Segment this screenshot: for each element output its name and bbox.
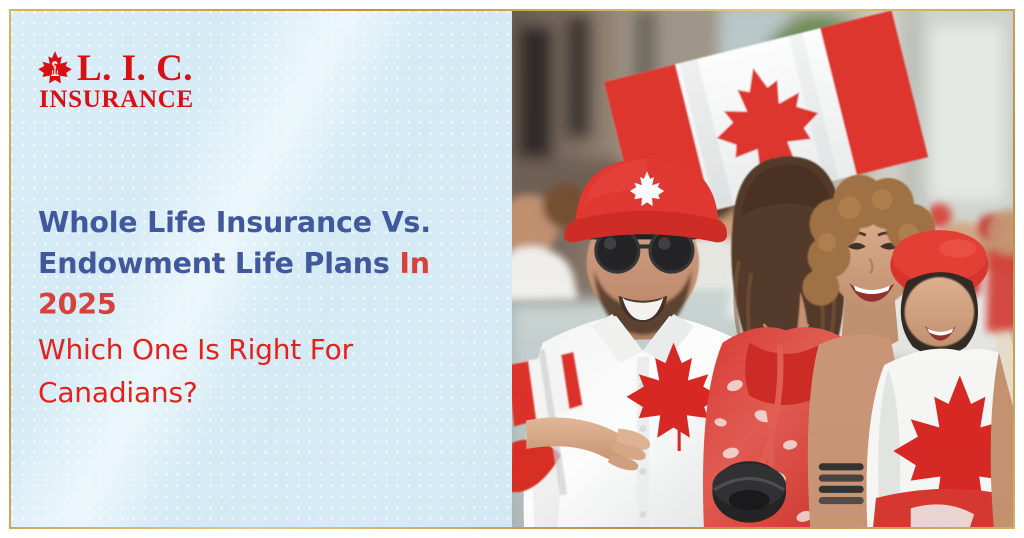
left-content-panel: L. I. C. INSURANCE Whole Life Insurance … [11,11,512,527]
logo-insurance-text: INSURANCE [39,86,194,113]
headline-main: Whole Life Insurance Vs. Endowment Life … [38,202,483,325]
logo-primary-row: L. I. C. [37,49,193,89]
headline-subtitle: Which One Is Right For Canadians? [38,328,483,414]
headline-line-1: Whole Life Insurance Vs. [38,202,483,243]
blog-banner: L. I. C. INSURANCE Whole Life Insurance … [0,0,1024,538]
headline-block: Whole Life Insurance Vs. Endowment Life … [38,202,483,414]
banner-inner: L. I. C. INSURANCE Whole Life Insurance … [11,11,1013,527]
maple-leaf-icon [37,50,73,88]
canada-day-crowd-illustration [512,11,1013,527]
logo-lic-text: L. I. C. [77,50,193,88]
lic-insurance-logo[interactable]: L. I. C. INSURANCE [37,49,194,113]
headline-line-2-plain: Endowment Life Plans [38,247,399,280]
headline-line-2: Endowment Life Plans In 2025 [38,243,483,325]
hero-photo [512,11,1013,527]
headline-line-4: Canadians? [38,371,483,414]
headline-line-3: Which One Is Right For [38,328,483,371]
